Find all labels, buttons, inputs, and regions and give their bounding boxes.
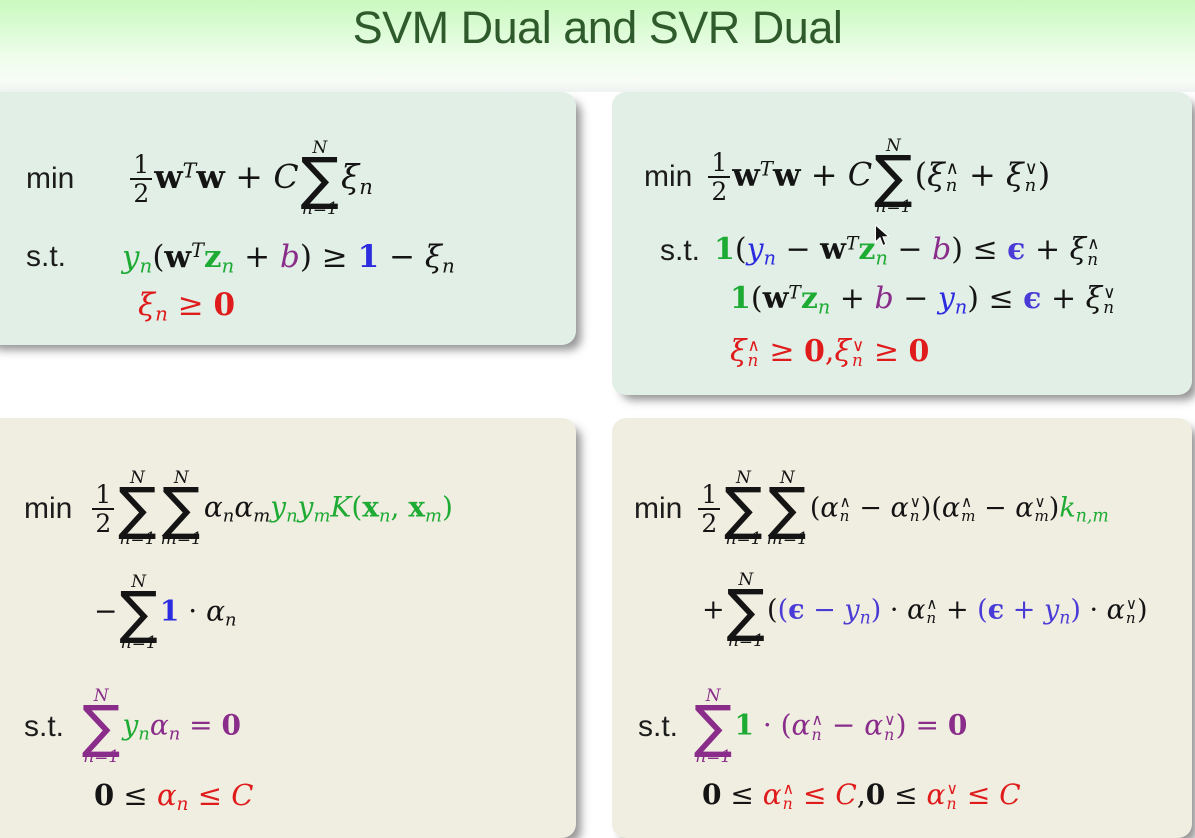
svm-dual-objective-line-2: −N∑n=11 · αn [94, 574, 237, 652]
one-half-fraction: 12 [92, 482, 114, 537]
keyword-min: min [644, 160, 692, 194]
summation-n-1-to-N: N∑n=1 [727, 572, 765, 650]
svm-dual-constraint-1: N∑n=1ynαn = 0 [80, 688, 241, 766]
panel-svm-primal: min 12wTw + CN∑n=1ξn s.t. yn(wTzn + b) ≥… [0, 92, 576, 345]
svr-primal-constraint-row-3: ξ∧n ≥ 0,ξ∨n ≥ 0 [730, 337, 929, 368]
summation-n-1-to-N: N∑n=1 [724, 470, 762, 548]
svr-dual-constraint-row-2: 0 ≤ α∧n ≤ C,0 ≤ α∨n ≤ C [702, 781, 1021, 811]
keyword-min: min [26, 162, 74, 196]
keyword-min: min [24, 492, 72, 526]
panel-svr-dual: min 12N∑n=1N∑m=1(α∧n − α∨n)(α∧m − α∨m)kn… [612, 418, 1192, 838]
panel-svr-primal: min 12wTw + CN∑n=1(ξ∧n + ξ∨n) s.t. 1(yn … [612, 92, 1192, 395]
svr-primal-constraint-1: 1(yn − wTzn − b) ≤ ϵ + ξ∧n [714, 235, 1099, 266]
svr-dual-objective-row-2: +N∑n=1((ϵ − yn) · α∧n + (ϵ + yn) · α∨n) [702, 572, 1148, 650]
svm-primal-constraint-2: ξn ≥ 0 [138, 290, 235, 321]
keyword-st: s.t. [24, 710, 64, 744]
svr-dual-constraint-1: N∑n=11 · (α∧n − α∨n) = 0 [692, 688, 967, 766]
keyword-st: s.t. [26, 240, 66, 274]
summation-n-1-to-N: N∑n=1 [301, 140, 339, 218]
summation-n-1-to-N: N∑n=1 [118, 470, 156, 548]
summation-n-1-to-N: N∑n=1 [119, 574, 157, 652]
svr-dual-constraint-2: 0 ≤ α∧n ≤ C,0 ≤ α∨n ≤ C [702, 781, 1021, 811]
slide-header: SVM Dual and SVR Dual [0, 0, 1195, 92]
svr-primal-constraint-row-1: s.t. 1(yn − wTzn − b) ≤ ϵ + ξ∧n [660, 234, 1100, 268]
svr-primal-objective: 12wTw + CN∑n=1(ξ∧n + ξ∨n) [706, 138, 1050, 216]
keyword-min: min [634, 492, 682, 526]
svm-dual-constraint-row-1: s.t. N∑n=1ynαn = 0 [24, 688, 241, 766]
svr-dual-constraint-row-1: s.t. N∑n=11 · (α∧n − α∨n) = 0 [638, 688, 967, 766]
svr-dual-objective-line-1: 12N∑n=1N∑m=1(α∧n − α∨n)(α∧m − α∨m)kn,m [696, 470, 1108, 548]
svm-dual-objective-row-2: −N∑n=11 · αn [94, 574, 237, 652]
svm-primal-objective: 12wTw + CN∑n=1ξn [128, 140, 373, 218]
svr-dual-objective-row-1: min 12N∑n=1N∑m=1(α∧n − α∨n)(α∧m − α∨m)kn… [634, 470, 1109, 548]
summation-n-1-to-N: N∑n=1 [874, 138, 912, 216]
svm-primal-constraint-row-1: s.t. yn(wTzn + b) ≥ 1 − ξn [26, 240, 455, 274]
one-half-fraction: 12 [708, 150, 730, 205]
svm-primal-constraint-1: yn(wTzn + b) ≥ 1 − ξn [122, 242, 455, 273]
svr-primal-constraint-row-2: 1(wTzn + b − yn) ≤ ϵ + ξ∨n [730, 284, 1115, 315]
page-title: SVM Dual and SVR Dual [0, 2, 1195, 54]
svm-dual-objective-line-1: 12N∑n=1N∑m=1αnαmynymK(xn, xm) [90, 470, 453, 548]
svm-primal-constraint-row-2: ξn ≥ 0 [138, 290, 235, 321]
panel-svm-dual: min 12N∑n=1N∑m=1αnαmynymK(xn, xm) −N∑n=1… [0, 418, 576, 838]
one-half-fraction: 12 [130, 152, 152, 207]
summation-m-1-to-N: N∑m=1 [161, 470, 202, 548]
svr-primal-objective-row: min 12wTw + CN∑n=1(ξ∧n + ξ∨n) [644, 138, 1050, 216]
svm-primal-objective-row: min 12wTw + CN∑n=1ξn [26, 140, 373, 218]
one-half-fraction: 12 [698, 482, 720, 537]
summation-n-1-to-N: N∑n=1 [82, 688, 120, 766]
summation-n-1-to-N: N∑n=1 [694, 688, 732, 766]
svm-dual-objective-row-1: min 12N∑n=1N∑m=1αnαmynymK(xn, xm) [24, 470, 453, 548]
svr-primal-constraint-3: ξ∧n ≥ 0,ξ∨n ≥ 0 [730, 337, 929, 368]
summation-m-1-to-N: N∑m=1 [767, 470, 808, 548]
svm-dual-constraint-row-2: 0 ≤ αn ≤ C [94, 781, 253, 810]
svr-dual-objective-line-2: +N∑n=1((ϵ − yn) · α∧n + (ϵ + yn) · α∨n) [702, 572, 1148, 650]
svm-dual-constraint-2: 0 ≤ αn ≤ C [94, 781, 253, 810]
keyword-st: s.t. [660, 234, 700, 268]
keyword-st: s.t. [638, 710, 678, 744]
svr-primal-constraint-2: 1(wTzn + b − yn) ≤ ϵ + ξ∨n [730, 284, 1115, 315]
